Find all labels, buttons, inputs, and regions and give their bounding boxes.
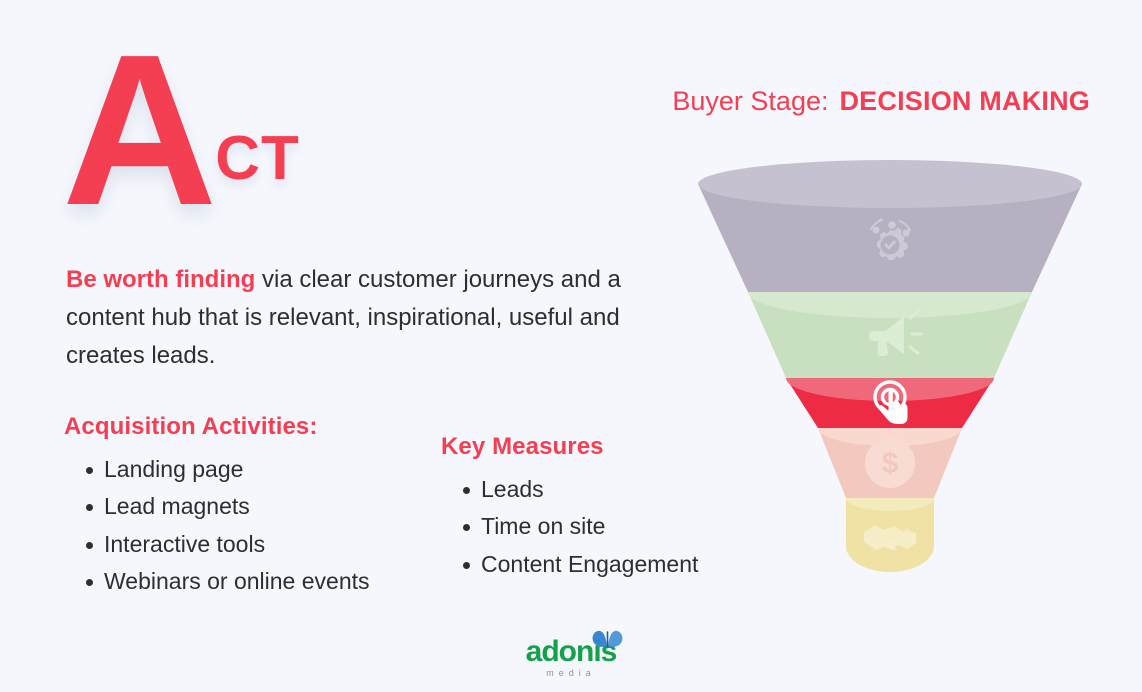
butterfly-icon [591, 628, 625, 650]
brand-logo: adonis media [511, 637, 631, 678]
act-remaining-letters: CT [215, 128, 300, 214]
logo-subtitle: media [511, 669, 631, 678]
conversion-funnel-graphic: $ [690, 160, 1090, 600]
buyer-stage-value: DECISION MAKING [839, 86, 1090, 117]
buyer-stage-header: Buyer Stage: DECISION MAKING [672, 86, 1090, 117]
intro-paragraph: Be worth finding via clear customer jour… [66, 261, 646, 375]
dollar-coin-icon: $ [865, 438, 915, 488]
intro-lead-phrase: Be worth finding [66, 266, 255, 293]
svg-text:$: $ [882, 447, 899, 480]
act-initial-letter: A [62, 46, 213, 214]
funnel-svg: $ [690, 160, 1090, 600]
list-item: Landing page [64, 451, 444, 488]
list-item: Interactive tools [64, 526, 444, 563]
acquisition-activities-section: Acquisition Activities: Landing page Lea… [64, 413, 444, 600]
act-wordmark: A CT [62, 46, 300, 214]
acquisition-list: Landing page Lead magnets Interactive to… [64, 451, 444, 600]
funnel-layer-awareness [698, 160, 1082, 292]
list-item: Webinars or online events [64, 563, 444, 600]
acquisition-heading: Acquisition Activities: [64, 413, 444, 441]
list-item: Lead magnets [64, 488, 444, 525]
buyer-stage-label: Buyer Stage: [672, 86, 828, 117]
funnel-layer-loyalty [846, 485, 934, 572]
